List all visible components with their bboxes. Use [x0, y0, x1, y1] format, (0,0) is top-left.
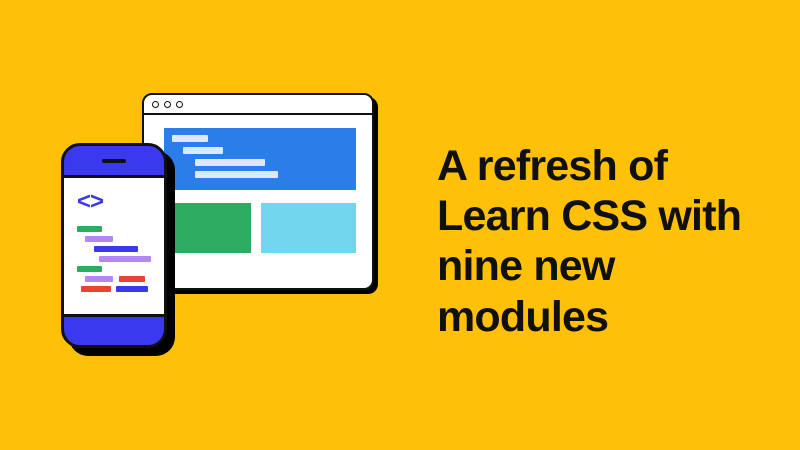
hero-text-line	[195, 171, 278, 178]
phone-screen: <>	[64, 175, 164, 317]
code-line	[119, 276, 145, 282]
content-card-cyan	[261, 203, 356, 253]
browser-content	[144, 115, 372, 288]
hero-text-line	[172, 135, 208, 142]
window-close-dot-icon	[152, 101, 159, 108]
phone-illustration: <>	[61, 143, 167, 348]
phone-speaker-icon	[102, 159, 126, 163]
browser-titlebar	[144, 95, 372, 115]
hero-text-line	[183, 147, 223, 154]
code-line	[77, 266, 102, 272]
code-line	[99, 256, 151, 262]
phone-body: <>	[61, 143, 167, 348]
code-line	[116, 286, 148, 292]
hero-block	[164, 128, 356, 190]
window-maximize-dot-icon	[176, 101, 183, 108]
code-brackets-icon: <>	[77, 190, 103, 214]
banner-headline: A refresh of Learn CSS with nine new mod…	[437, 141, 787, 342]
hero-text-line	[195, 159, 265, 166]
code-line	[85, 236, 113, 242]
browser-window-frame	[142, 93, 374, 290]
window-minimize-dot-icon	[164, 101, 171, 108]
promo-banner: <> A refresh of Learn CSS with nine new …	[0, 0, 800, 450]
code-line	[85, 276, 113, 282]
content-card-green	[164, 203, 251, 253]
code-line	[94, 246, 138, 252]
illustration: <>	[0, 0, 420, 450]
code-line	[77, 226, 102, 232]
content-card-row	[164, 203, 356, 253]
code-line	[81, 286, 111, 292]
browser-window-illustration	[142, 93, 374, 290]
